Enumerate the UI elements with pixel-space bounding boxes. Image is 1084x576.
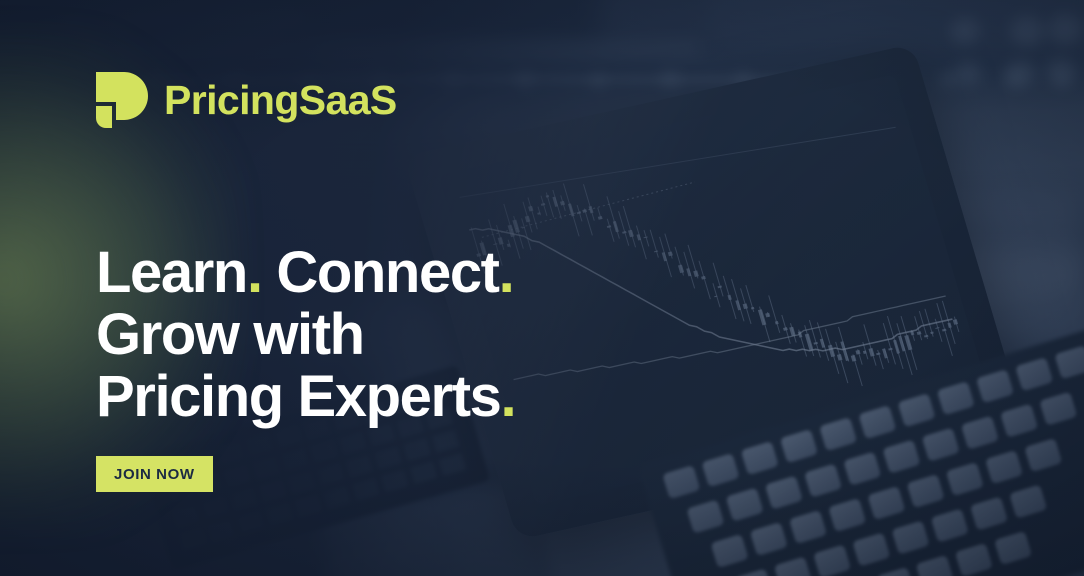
headline-line-2: Grow with xyxy=(96,304,515,366)
brand-name: PricingSaaS xyxy=(164,80,397,121)
headline-dot-2: . xyxy=(499,240,514,305)
headline-pricing-experts: Pricing Experts xyxy=(96,364,501,429)
headline-connect: Connect xyxy=(262,240,499,305)
join-now-button[interactable]: JOIN NOW xyxy=(96,456,213,492)
headline-line-1: Learn. Connect. xyxy=(96,242,515,304)
page-title: Learn. Connect. Grow with Pricing Expert… xyxy=(96,242,515,428)
brand-logo[interactable]: PricingSaaS xyxy=(96,72,397,128)
headline-line-3: Pricing Experts. xyxy=(96,366,515,428)
banner-content: PricingSaaS Learn. Connect. Grow with Pr… xyxy=(0,0,1084,576)
pricingsaas-p-mark-icon xyxy=(96,72,148,128)
headline-dot-1: . xyxy=(247,240,262,305)
headline-learn: Learn xyxy=(96,240,247,305)
headline-dot-3: . xyxy=(501,364,516,429)
promo-banner: PricingSaaS Learn. Connect. Grow with Pr… xyxy=(0,0,1084,576)
